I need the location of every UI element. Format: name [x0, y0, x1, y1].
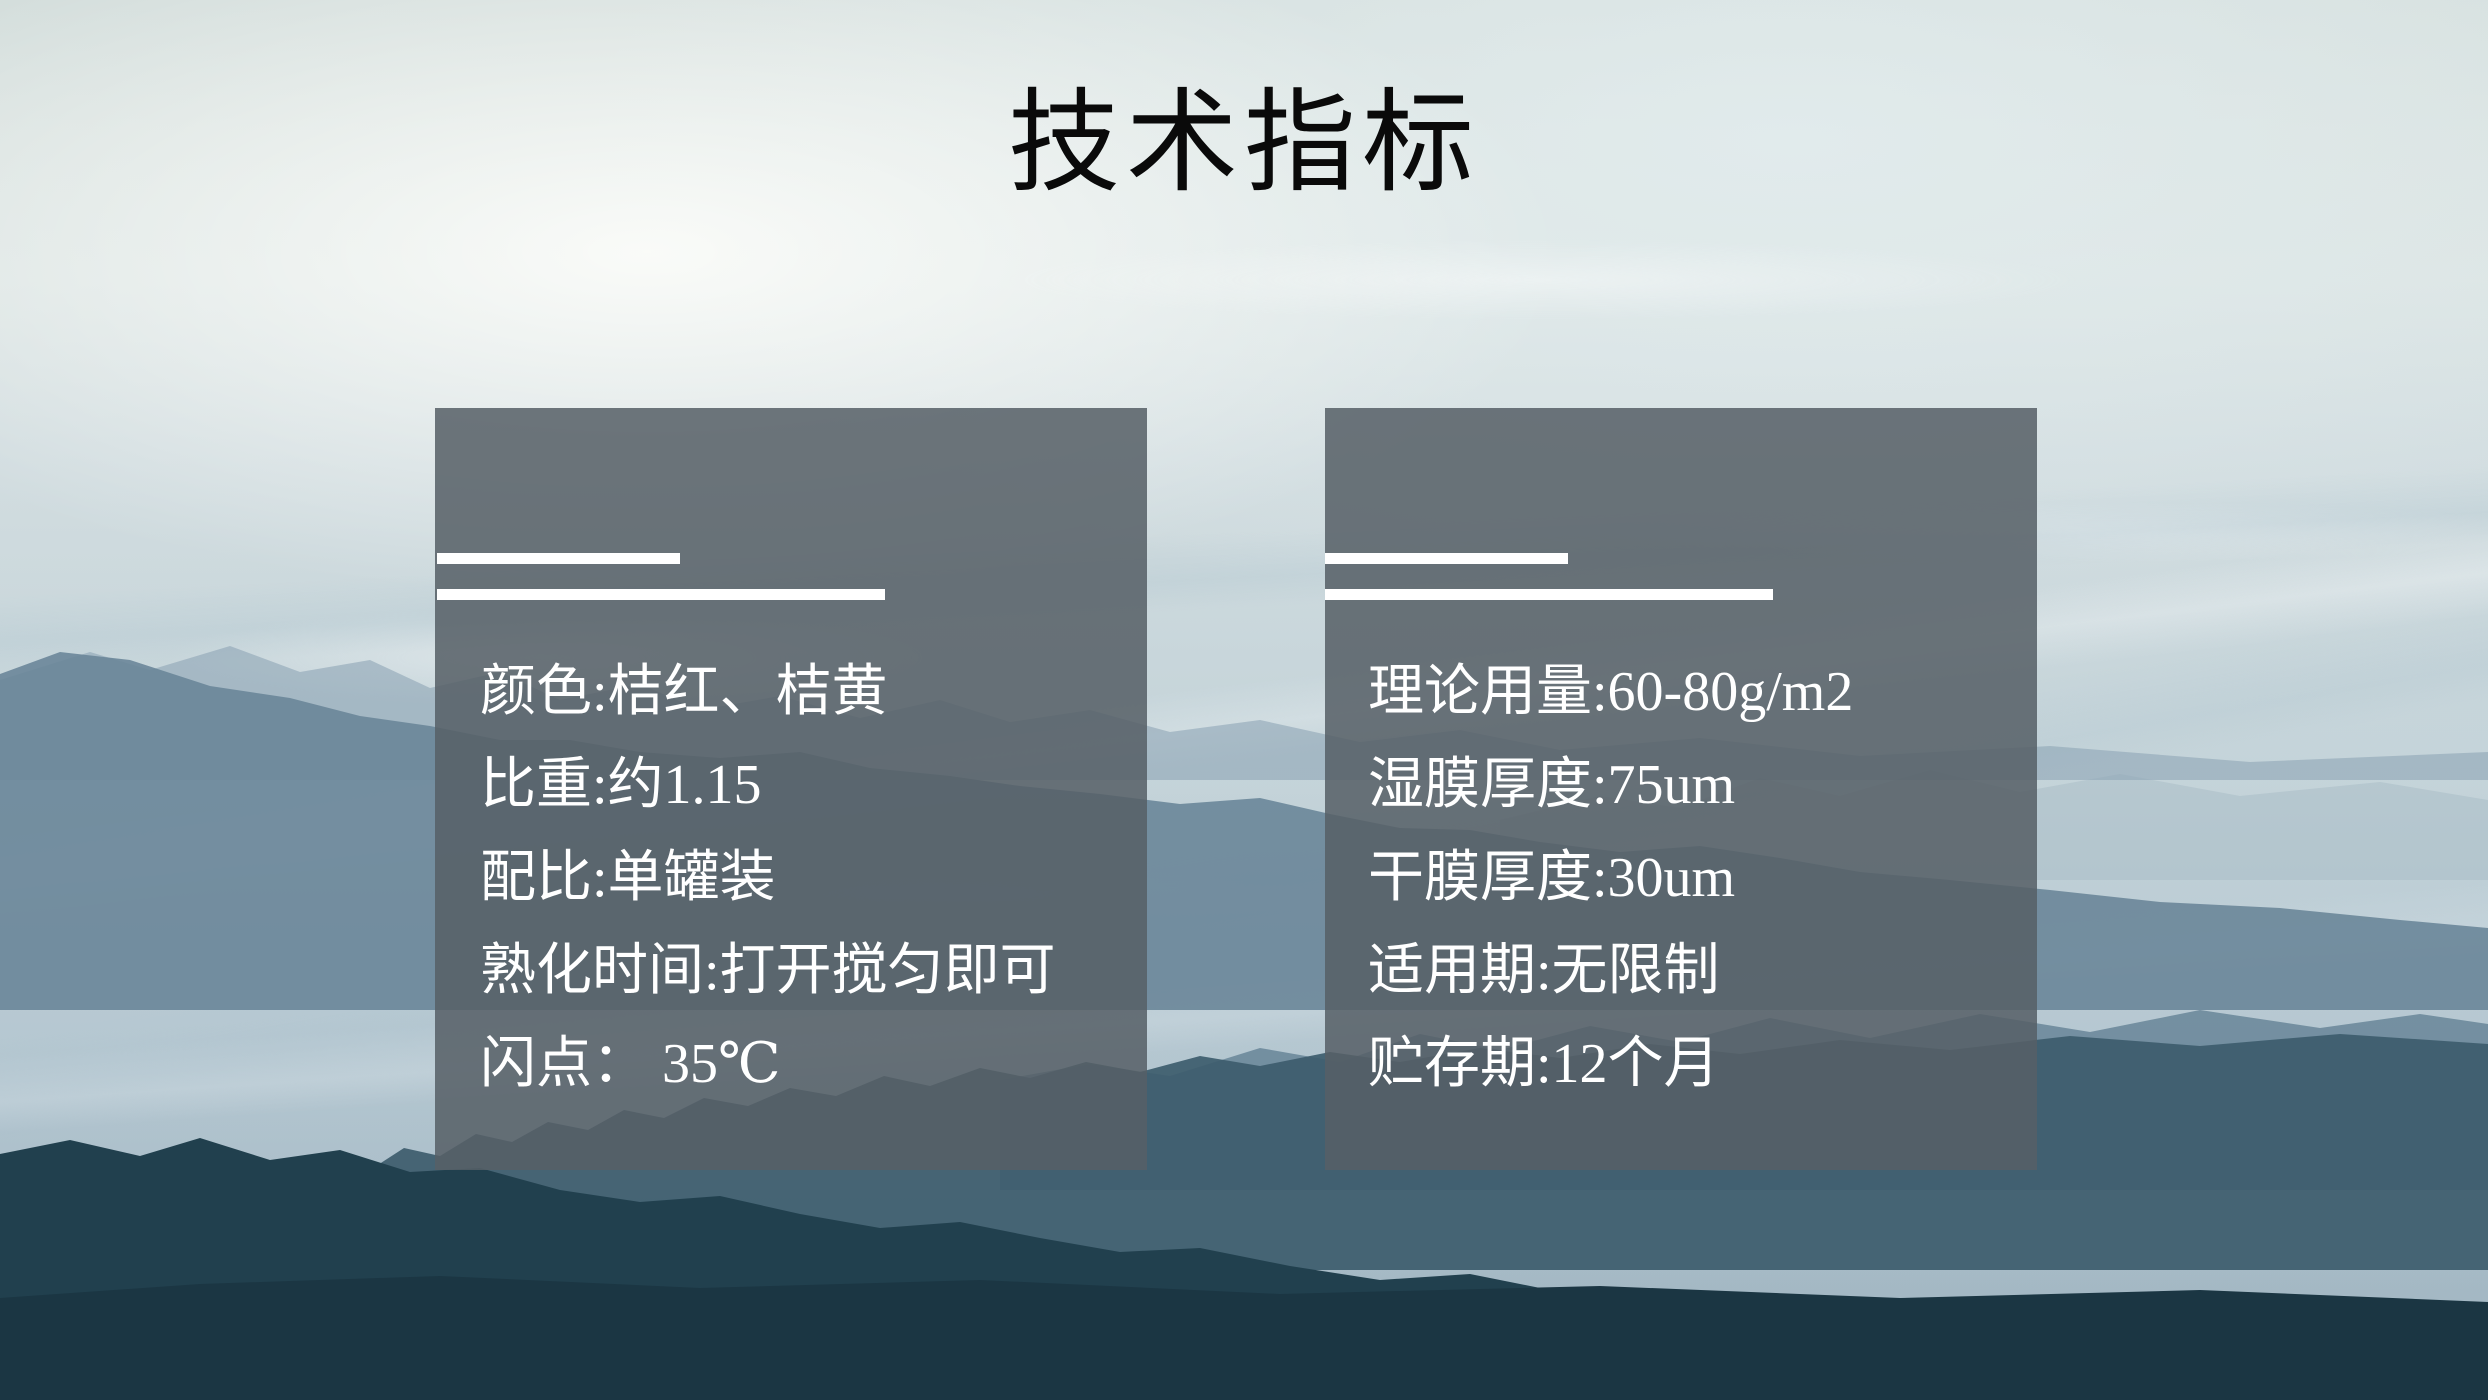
spec-line: 适用期:无限制 — [1368, 925, 2017, 1018]
slide-canvas: 技术指标 颜色:桔红、桔黄 比重:约1.15 配比:单罐装 熟化时间:打开搅匀即… — [0, 0, 2488, 1400]
card-rules-right — [1325, 553, 2037, 600]
spec-line: 湿膜厚度:75um — [1368, 739, 2017, 832]
spec-line: 熟化时间:打开搅匀即可 — [480, 925, 1127, 1018]
spec-line: 贮存期:12个月 — [1368, 1018, 2017, 1111]
spec-list-right: 理论用量:60-80g/m2 湿膜厚度:75um 干膜厚度:30um 适用期:无… — [1368, 646, 2017, 1111]
bottom-dark-band — [0, 1258, 2488, 1400]
spec-line: 比重:约1.15 — [480, 739, 1127, 832]
decorative-rule-short-icon — [437, 553, 680, 564]
spec-list-left: 颜色:桔红、桔黄 比重:约1.15 配比:单罐装 熟化时间:打开搅匀即可 闪点：… — [480, 646, 1127, 1111]
spec-line: 理论用量:60-80g/m2 — [1368, 646, 2017, 739]
page-title: 技术指标 — [0, 78, 2488, 210]
decorative-rule-short-icon — [1325, 553, 1568, 564]
card-rules-left — [435, 553, 1149, 600]
spec-line: 干膜厚度:30um — [1368, 832, 2017, 925]
decorative-rule-long-icon — [437, 589, 885, 600]
application-properties-card: 理论用量:60-80g/m2 湿膜厚度:75um 干膜厚度:30um 适用期:无… — [1325, 408, 2037, 1170]
physical-properties-card: 颜色:桔红、桔黄 比重:约1.15 配比:单罐装 熟化时间:打开搅匀即可 闪点：… — [435, 408, 1147, 1170]
spec-line: 闪点： 35℃ — [480, 1018, 1127, 1111]
spec-line: 配比:单罐装 — [480, 832, 1127, 925]
spec-line: 颜色:桔红、桔黄 — [480, 646, 1127, 739]
decorative-rule-long-icon — [1325, 589, 1773, 600]
